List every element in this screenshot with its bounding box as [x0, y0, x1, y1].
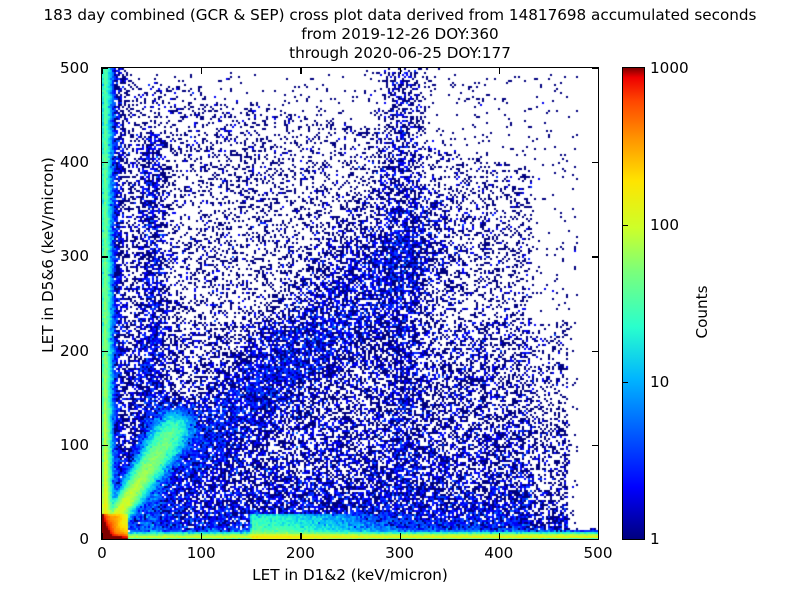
colorbar-tick-label-1000: 1000: [650, 59, 689, 77]
x-tick-400: [499, 533, 500, 539]
x-tick-500: [598, 533, 599, 539]
x-tick-label-100: 100: [187, 544, 216, 562]
y-axis-label: LET in D5&6 (keV/micron): [39, 95, 57, 415]
chart-title: 183 day combined (GCR & SEP) cross plot …: [0, 6, 800, 63]
y-tick-200: [102, 351, 108, 352]
y-tick-right-200: [592, 351, 598, 352]
y-tick-label-500: 500: [60, 59, 89, 77]
colorbar-tick-10: [623, 382, 628, 383]
y-tick-right-0: [592, 539, 598, 540]
x-tick-200: [300, 533, 301, 539]
colorbar-label: Counts: [693, 222, 711, 402]
chart-title-line-2: from 2019-12-26 DOY:360: [0, 25, 800, 44]
colorbar: [622, 67, 645, 540]
y-tick-label-300: 300: [60, 247, 89, 265]
y-tick-300: [102, 256, 108, 257]
x-tick-top-200: [300, 68, 301, 74]
y-tick-right-100: [592, 445, 598, 446]
x-tick-label-200: 200: [286, 544, 315, 562]
scatter-density-plot: [102, 68, 598, 539]
colorbar-tick-100: [623, 225, 628, 226]
x-axis-label: LET in D1&2 (keV/micron): [101, 566, 599, 584]
chart-title-line-1: 183 day combined (GCR & SEP) cross plot …: [0, 6, 800, 25]
y-tick-400: [102, 162, 108, 163]
colorbar-tick-label-100: 100: [650, 216, 679, 234]
y-tick-100: [102, 445, 108, 446]
colorbar-tick-label-10: 10: [650, 373, 669, 391]
y-tick-label-0: 0: [79, 530, 89, 548]
x-tick-100: [201, 533, 202, 539]
x-tick-label-400: 400: [484, 544, 513, 562]
x-tick-top-400: [499, 68, 500, 74]
colorbar-tick-label-1: 1: [650, 530, 660, 548]
y-tick-right-400: [592, 162, 598, 163]
y-tick-label-200: 200: [60, 342, 89, 360]
y-tick-500: [102, 68, 108, 69]
x-tick-top-300: [400, 68, 401, 74]
figure-canvas: 183 day combined (GCR & SEP) cross plot …: [0, 0, 800, 600]
x-tick-top-500: [598, 68, 599, 74]
y-tick-right-500: [592, 68, 598, 69]
plot-area: [101, 67, 599, 540]
y-tick-right-300: [592, 256, 598, 257]
x-tick-label-300: 300: [385, 544, 414, 562]
colorbar-gradient: [623, 68, 644, 539]
x-tick-300: [400, 533, 401, 539]
y-tick-0: [102, 539, 108, 540]
x-tick-label-500: 500: [584, 544, 613, 562]
y-tick-label-100: 100: [60, 436, 89, 454]
y-tick-label-400: 400: [60, 153, 89, 171]
x-tick-top-100: [201, 68, 202, 74]
x-tick-label-0: 0: [97, 544, 107, 562]
